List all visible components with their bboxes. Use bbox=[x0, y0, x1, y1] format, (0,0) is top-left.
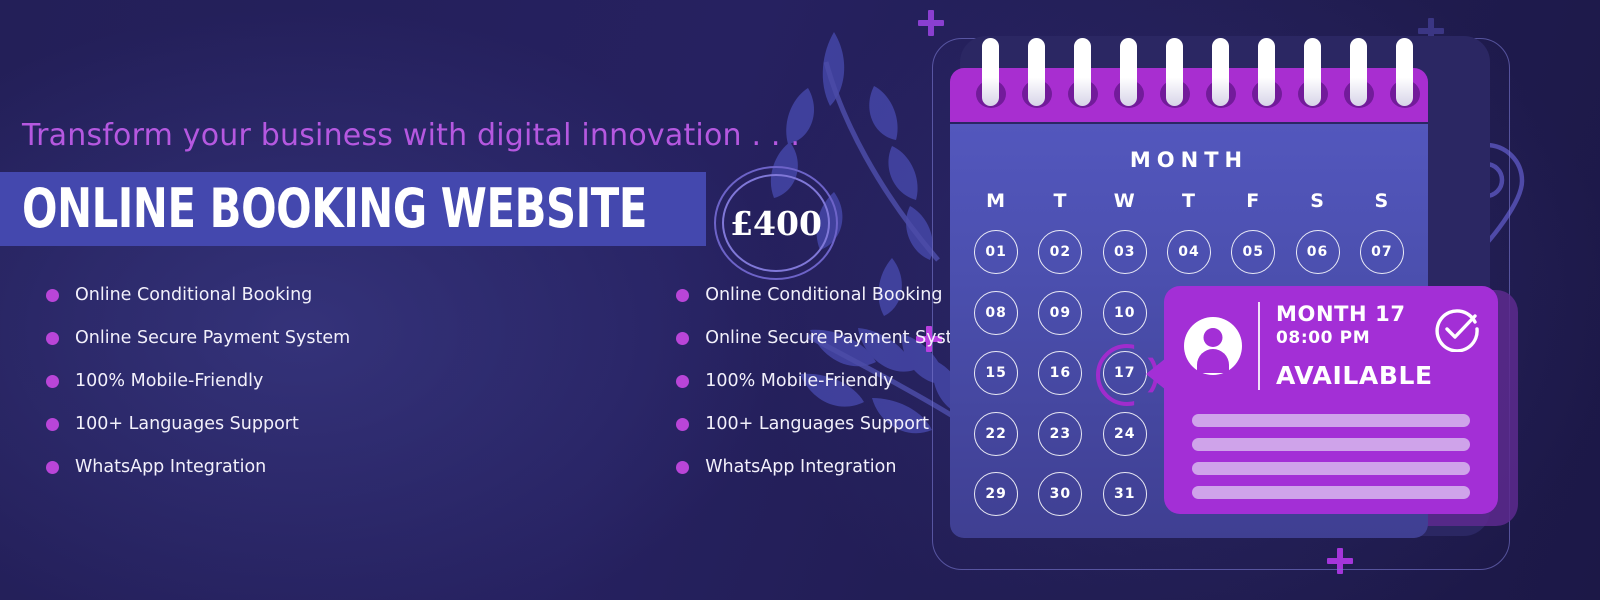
calendar-day[interactable]: 22 bbox=[974, 412, 1018, 456]
spiral-ring bbox=[1074, 38, 1091, 106]
bullet-icon bbox=[46, 461, 59, 474]
price-value: £400 bbox=[714, 166, 838, 280]
calendar-weekday: S bbox=[1285, 190, 1349, 212]
spiral-ring bbox=[982, 38, 999, 106]
spiral-ring bbox=[1028, 38, 1045, 106]
bullet-icon bbox=[676, 461, 689, 474]
booking-popup-card[interactable]: MONTH 17 08:00 PM AVAILABLE bbox=[1164, 286, 1498, 514]
spiral-ring bbox=[1396, 38, 1413, 106]
calendar-date-cell: 09 bbox=[1028, 291, 1092, 335]
bullet-icon bbox=[676, 375, 689, 388]
feature-label: 100% Mobile-Friendly bbox=[705, 371, 893, 391]
calendar-weekday: F bbox=[1221, 190, 1285, 212]
calendar-weekday: T bbox=[1157, 190, 1221, 212]
feature-label: Online Secure Payment System bbox=[705, 328, 980, 348]
list-item: WhatsApp Integration bbox=[46, 456, 350, 478]
feature-label: Online Conditional Booking bbox=[75, 285, 312, 305]
calendar-date-cell: 15 bbox=[964, 351, 1028, 395]
list-item: Online Secure Payment System bbox=[676, 327, 980, 349]
list-item: Online Conditional Booking bbox=[46, 284, 350, 306]
calendar-date-cell: 07 bbox=[1350, 230, 1414, 274]
feature-label: 100+ Languages Support bbox=[705, 414, 929, 434]
spiral-ring bbox=[1304, 38, 1321, 106]
calendar-date-cell: 16 bbox=[1028, 351, 1092, 395]
bullet-icon bbox=[46, 375, 59, 388]
calendar-day[interactable]: 16 bbox=[1038, 351, 1082, 395]
list-item: 100+ Languages Support bbox=[676, 413, 980, 435]
calendar-date-cell: 24 bbox=[1093, 412, 1157, 456]
list-item: Online Secure Payment System bbox=[46, 327, 350, 349]
calendar-day[interactable]: 03 bbox=[1103, 230, 1147, 274]
list-item: WhatsApp Integration bbox=[676, 456, 980, 478]
calendar-day[interactable]: 09 bbox=[1038, 291, 1082, 335]
calendar-day[interactable]: 07 bbox=[1360, 230, 1404, 274]
calendar-weekday: M bbox=[964, 190, 1028, 212]
calendar-date-cell: 03 bbox=[1093, 230, 1157, 274]
calendar-day[interactable]: 15 bbox=[974, 351, 1018, 395]
placeholder-bar bbox=[1192, 414, 1470, 427]
calendar-day[interactable]: 02 bbox=[1038, 230, 1082, 274]
feature-lists: Online Conditional Booking Online Secure… bbox=[46, 284, 980, 478]
popup-header: MONTH 17 08:00 PM AVAILABLE bbox=[1184, 302, 1433, 390]
popup-divider bbox=[1258, 302, 1260, 390]
calendar-day[interactable]: 04 bbox=[1167, 230, 1211, 274]
calendar-day[interactable]: 05 bbox=[1231, 230, 1275, 274]
calendar-date-cell: 22 bbox=[964, 412, 1028, 456]
page-title: ONLINE BOOKING WEBSITE bbox=[22, 175, 647, 243]
calendar-date-cell: 04 bbox=[1157, 230, 1221, 274]
feature-label: WhatsApp Integration bbox=[705, 457, 896, 477]
calendar-day[interactable]: 06 bbox=[1296, 230, 1340, 274]
calendar-day[interactable]: 01 bbox=[974, 230, 1018, 274]
calendar-week-row: 01020304050607 bbox=[964, 230, 1414, 274]
calendar-day[interactable]: 29 bbox=[974, 472, 1018, 516]
feature-label: WhatsApp Integration bbox=[75, 457, 266, 477]
bullet-icon bbox=[46, 332, 59, 345]
feature-label: Online Conditional Booking bbox=[705, 285, 942, 305]
calendar-date-cell: 02 bbox=[1028, 230, 1092, 274]
bullet-icon bbox=[46, 289, 59, 302]
feature-label: Online Secure Payment System bbox=[75, 328, 350, 348]
list-item: Online Conditional Booking bbox=[676, 284, 980, 306]
calendar-day[interactable]: 31 bbox=[1103, 472, 1147, 516]
calendar-date-cell: 05 bbox=[1221, 230, 1285, 274]
calendar-date-cell: 29 bbox=[964, 472, 1028, 516]
calendar-day[interactable]: 30 bbox=[1038, 472, 1082, 516]
spiral-ring bbox=[1120, 38, 1137, 106]
placeholder-bar bbox=[1192, 462, 1470, 475]
calendar-weekday-row: MTWTFSS bbox=[964, 190, 1414, 212]
popup-details: MONTH 17 08:00 PM AVAILABLE bbox=[1276, 302, 1433, 390]
list-item: 100% Mobile-Friendly bbox=[676, 370, 980, 392]
feature-column-right: Online Conditional Booking Online Secure… bbox=[676, 284, 980, 478]
popup-placeholder-bars bbox=[1192, 414, 1470, 499]
calendar-weekday: T bbox=[1028, 190, 1092, 212]
feature-label: 100+ Languages Support bbox=[75, 414, 299, 434]
popup-date: MONTH 17 bbox=[1276, 302, 1433, 326]
status-badge: AVAILABLE bbox=[1276, 361, 1433, 390]
calendar-day[interactable]: 10 bbox=[1103, 291, 1147, 335]
promo-banner: Transform your business with digital inn… bbox=[0, 0, 1600, 600]
calendar-day[interactable]: 24 bbox=[1103, 412, 1147, 456]
avatar bbox=[1184, 317, 1242, 375]
spiral-ring bbox=[1212, 38, 1229, 106]
bullet-icon bbox=[676, 289, 689, 302]
price-badge: £400 bbox=[714, 166, 838, 280]
bullet-icon bbox=[46, 418, 59, 431]
calendar-weekday: S bbox=[1350, 190, 1414, 212]
calendar-weekday: W bbox=[1093, 190, 1157, 212]
spiral-ring bbox=[1350, 38, 1367, 106]
calendar-day[interactable]: 08 bbox=[974, 291, 1018, 335]
feature-label: 100% Mobile-Friendly bbox=[75, 371, 263, 391]
list-item: 100+ Languages Support bbox=[46, 413, 350, 435]
spiral-binding bbox=[950, 38, 1428, 112]
spiral-ring bbox=[1166, 38, 1183, 106]
bullet-icon bbox=[676, 332, 689, 345]
calendar-date-cell: 31 bbox=[1093, 472, 1157, 516]
plus-icon-top-left bbox=[918, 10, 944, 36]
spiral-ring bbox=[1258, 38, 1275, 106]
calendar-date-cell: 08 bbox=[964, 291, 1028, 335]
popup-time: 08:00 PM bbox=[1276, 328, 1433, 348]
popup-tail bbox=[1146, 358, 1166, 390]
calendar-date-cell: 06 bbox=[1285, 230, 1349, 274]
placeholder-bar bbox=[1192, 486, 1470, 499]
calendar-day-selected[interactable]: 17 bbox=[1103, 351, 1147, 395]
tagline: Transform your business with digital inn… bbox=[22, 118, 800, 153]
calendar-day[interactable]: 23 bbox=[1038, 412, 1082, 456]
feature-column-left: Online Conditional Booking Online Secure… bbox=[46, 284, 350, 478]
list-item: 100% Mobile-Friendly bbox=[46, 370, 350, 392]
calendar-date-cell: 10 bbox=[1093, 291, 1157, 335]
calendar-date-cell: 01 bbox=[964, 230, 1028, 274]
calendar-date-cell: 30 bbox=[1028, 472, 1092, 516]
placeholder-bar bbox=[1192, 438, 1470, 451]
calendar-month-label: MONTH bbox=[950, 148, 1428, 172]
bullet-icon bbox=[676, 418, 689, 431]
check-circle-icon bbox=[1434, 306, 1480, 352]
calendar-date-cell: 23 bbox=[1028, 412, 1092, 456]
